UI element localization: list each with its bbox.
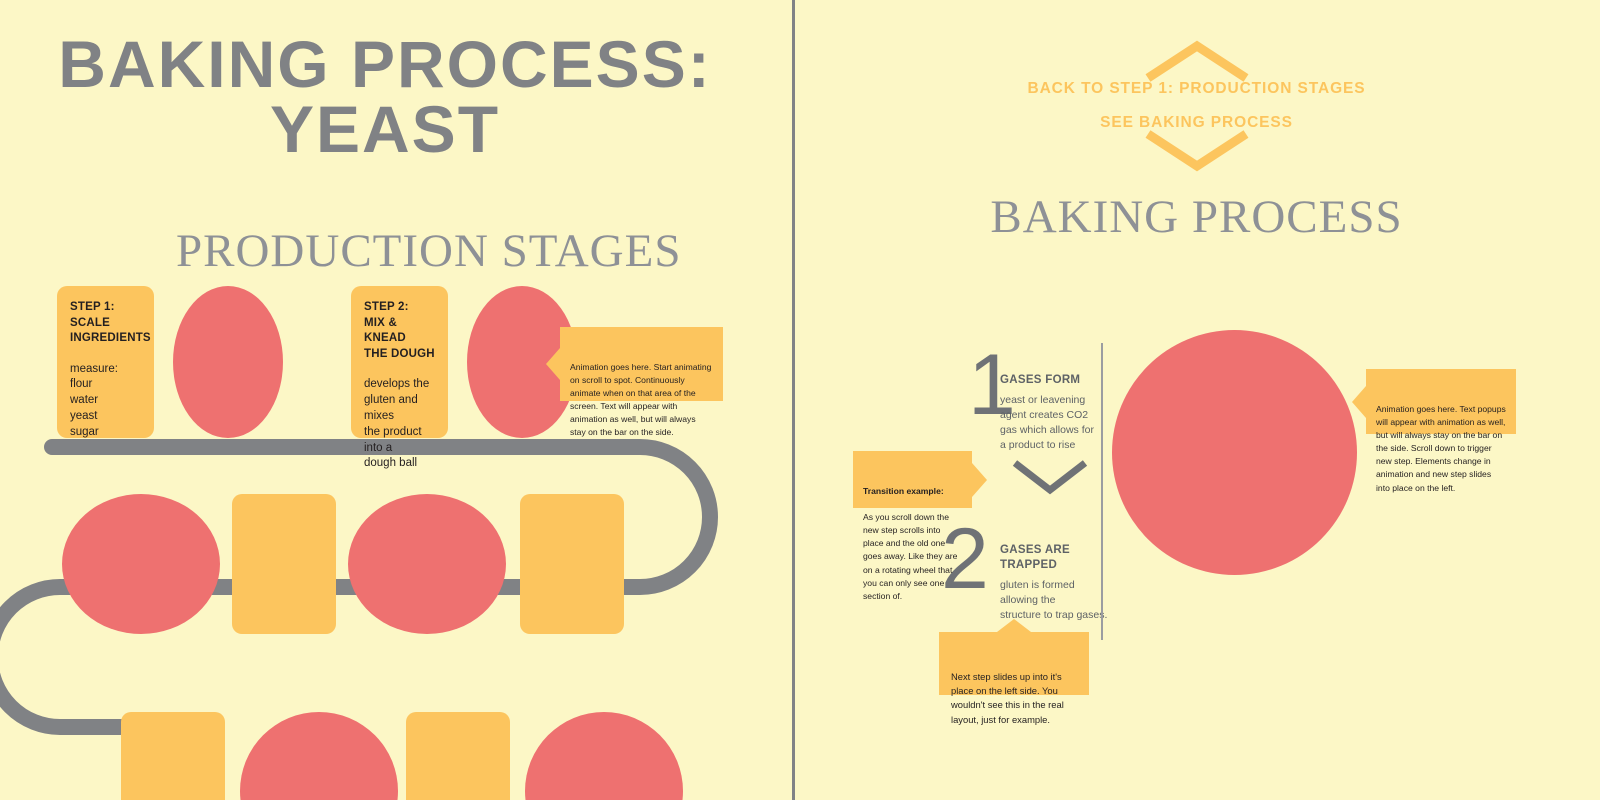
- right-panel-vertical-rule: [1101, 343, 1103, 640]
- step-card-2[interactable]: STEP 2: MIX & KNEAD THE DOUGH develops t…: [351, 286, 448, 438]
- callout-tail-icon: [972, 463, 987, 497]
- page-title: BAKING PROCESS: YEAST: [0, 32, 770, 163]
- step-card-1-body: measure: flour water yeast sugar: [70, 362, 142, 441]
- callout-transition-title: Transition example:: [863, 485, 962, 498]
- step-card-1[interactable]: STEP 1: SCALE INGREDIENTS measure: flour…: [57, 286, 154, 438]
- nav-link-back-to-step-1[interactable]: BACK TO STEP 1: PRODUCTION STAGES: [793, 80, 1600, 98]
- product-dot: [173, 286, 283, 438]
- callout-left-animation: Animation goes here. Start animating on …: [560, 327, 723, 401]
- baking-process-heading: BAKING PROCESS: [793, 190, 1600, 244]
- infographic-canvas: BAKING PROCESS: YEAST PRODUCTION STAGES …: [0, 0, 1600, 800]
- step-card-2-body: develops the gluten and mixes the produc…: [364, 377, 436, 472]
- callout-next-step-text: Next step slides up into it's place on t…: [951, 671, 1064, 724]
- callout-tail-icon: [997, 619, 1031, 632]
- callout-tail-icon: [546, 348, 560, 380]
- step-card-2-head: STEP 2: MIX & KNEAD THE DOUGH: [364, 300, 436, 362]
- product-tile: [520, 494, 624, 634]
- stage-divider-chevron-down-icon: [1010, 458, 1090, 496]
- callout-animation-text: Animation goes here. Text popups will ap…: [1376, 404, 1506, 492]
- product-tile: [406, 712, 510, 800]
- callout-transition-text: As you scroll down the new step scrolls …: [863, 512, 957, 600]
- chevron-up-icon[interactable]: [1142, 38, 1252, 84]
- stage-2-title: GASES ARE TRAPPED: [1000, 543, 1108, 573]
- left-panel: BAKING PROCESS: YEAST PRODUCTION STAGES …: [0, 0, 792, 800]
- product-tile: [121, 712, 225, 800]
- callout-next-step: Next step slides up into it's place on t…: [939, 632, 1089, 695]
- product-dot: [62, 494, 220, 634]
- callout-tail-icon: [1352, 386, 1366, 418]
- stage-1-body: yeast or leavening agent creates CO2 gas…: [1000, 393, 1104, 453]
- stage-2-body: gluten is formed allowing the structure …: [1000, 578, 1108, 623]
- stage-block-2: GASES ARE TRAPPED gluten is formed allow…: [1000, 543, 1108, 623]
- stage-1-title: GASES FORM: [1000, 373, 1104, 388]
- callout-transition: Transition example: As you scroll down t…: [853, 451, 972, 508]
- production-stages-heading: PRODUCTION STAGES: [176, 224, 681, 278]
- callout-left-animation-text: Animation goes here. Start animating on …: [570, 362, 711, 437]
- dough-circle: [1112, 330, 1357, 575]
- chevron-down-icon[interactable]: [1142, 128, 1252, 174]
- step-card-1-head: STEP 1: SCALE INGREDIENTS: [70, 300, 142, 347]
- callout-animation: Animation goes here. Text popups will ap…: [1366, 369, 1516, 434]
- product-tile: [232, 494, 336, 634]
- stage-block-1: GASES FORM yeast or leavening agent crea…: [1000, 373, 1104, 453]
- product-dot: [348, 494, 506, 634]
